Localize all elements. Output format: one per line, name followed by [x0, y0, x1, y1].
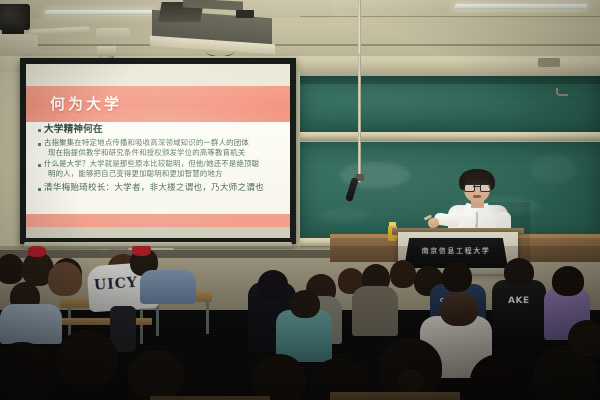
projector-mount-icon	[236, 10, 254, 18]
bench-back	[150, 396, 270, 400]
audience-head	[552, 266, 584, 296]
chalkboard-upper-panel	[300, 76, 600, 132]
shirt-button	[475, 224, 478, 227]
audience-head-front	[440, 292, 478, 326]
audience-head	[568, 320, 600, 356]
audience-head-front	[184, 362, 246, 400]
desk-leg	[140, 308, 143, 344]
audience-head	[290, 290, 320, 318]
wall-hook-icon	[556, 88, 568, 96]
chalkboard-shadow	[300, 76, 600, 84]
slide-bullet: 什么是大学？大学就是那些原本比较聪明，但他/她还不是绝顶聪 明的人，能够把自己变…	[38, 159, 288, 178]
slide-bullet-text: 大学精神何在	[44, 124, 103, 136]
audience-head	[258, 270, 288, 298]
tee-logo-text: AKE	[508, 296, 530, 306]
ceiling-seam-upper	[300, 16, 600, 17]
fluorescent-lamp-icon	[455, 4, 587, 9]
glasses-lens-right	[480, 184, 491, 192]
hair-bow	[132, 246, 151, 256]
slide-bullet-text: 清华梅贻琦校长：大学者，非大楼之谓也，乃大师之谓也	[44, 183, 264, 194]
screen-surface: 何为大学 大学精神何在 古指聚集在特定地点传播和吸收高深领域知识的一群人的团体 …	[26, 64, 290, 238]
slide-title: 何为大学	[50, 90, 250, 118]
student-black-tee	[492, 280, 546, 338]
bullet-dot-icon	[38, 143, 41, 146]
audience-head	[0, 254, 24, 284]
fluorescent-lamp-icon	[44, 10, 155, 15]
audience-head-front	[0, 342, 54, 400]
ceiling-pipe	[30, 26, 90, 35]
speaker-eyebrow	[481, 181, 490, 183]
chalk-rail	[300, 132, 600, 140]
slide-bullet-text: 现在指提供教学和研究条件和授权颁发学位的高等教育机关	[44, 148, 249, 158]
slide-bullet-list: 大学精神何在 古指聚集在特定地点传播和吸收高深领域知识的一群人的团体 现在指提供…	[38, 124, 288, 196]
slide-bullet-text: 明的人，能够把自己变得更加聪明和更加智慧的地方	[44, 169, 259, 179]
bullet-dot-icon	[38, 188, 41, 191]
desk-leg	[206, 302, 209, 334]
slide-bottom-banner	[26, 214, 290, 227]
audience-head-front	[128, 350, 184, 400]
student-denim-jacket	[140, 270, 196, 304]
audience-head	[442, 262, 472, 292]
audience-head	[48, 262, 82, 296]
slide-bullet: 清华梅贻琦校长：大学者，非大楼之谓也，乃大师之谓也	[38, 183, 288, 194]
speaker-mouth	[473, 195, 481, 198]
student-desk-shelf	[56, 318, 152, 325]
slide-bullet: 古指聚集在特定地点传播和吸收高深领域知识的一群人的团体 现在指提供教学和研究条件…	[38, 138, 288, 157]
audience: UICY CONVE AKE	[0, 246, 600, 400]
projector-housing	[0, 34, 38, 56]
glasses-bridge	[473, 186, 480, 187]
slide-bullet-group: 古指聚集在特定地点传播和吸收高深领域知识的一群人的团体 现在指提供教学和研究条件…	[44, 138, 249, 157]
slide-bullet-text: 古指聚集在特定地点传播和吸收高深领域知识的一群人的团体	[44, 138, 249, 148]
microphone-pole-upper	[358, 0, 361, 54]
audience-head-front	[56, 330, 118, 386]
bullet-dot-icon	[38, 164, 41, 167]
audience-head	[504, 258, 534, 286]
slide-bullet: 大学精神何在	[38, 124, 288, 136]
presentation-slide: 何为大学 大学精神何在 古指聚集在特定地点传播和吸收高深领域知识的一群人的团体 …	[26, 64, 290, 238]
microphone-pole	[358, 56, 361, 182]
glasses-icon	[464, 184, 490, 190]
hair-bow	[28, 246, 46, 257]
ceiling	[0, 0, 600, 60]
audience-head	[390, 260, 416, 288]
hair-bun	[398, 370, 424, 392]
support-pillar-cap	[97, 46, 116, 56]
bullet-dot-icon	[38, 129, 41, 132]
slide-footer	[26, 227, 290, 238]
audience-head-front	[470, 354, 530, 400]
bench-back	[330, 392, 460, 400]
speaker-eyebrow	[465, 181, 474, 183]
slide-bullet-group: 什么是大学？大学就是那些原本比较聪明，但他/她还不是绝顶聪 明的人，能够把自己变…	[44, 159, 259, 178]
slide-bullet-text: 什么是大学？大学就是那些原本比较聪明，但他/她还不是绝顶聪	[44, 159, 259, 169]
student-shirt	[0, 304, 62, 344]
ceiling-vent	[96, 28, 130, 40]
lecture-hall-photo: 何为大学 大学精神何在 古指聚集在特定地点传播和吸收高深领域知识的一群人的团体 …	[0, 0, 600, 400]
desk-leg	[156, 302, 159, 336]
audience-head-front	[252, 354, 306, 400]
ceiling-seam	[0, 44, 600, 46]
projection-screen: 何为大学 大学精神何在 古指聚集在特定地点传播和吸收高深领域知识的一群人的团体 …	[20, 58, 296, 250]
wall-vent	[538, 58, 560, 67]
student-body	[352, 286, 398, 336]
